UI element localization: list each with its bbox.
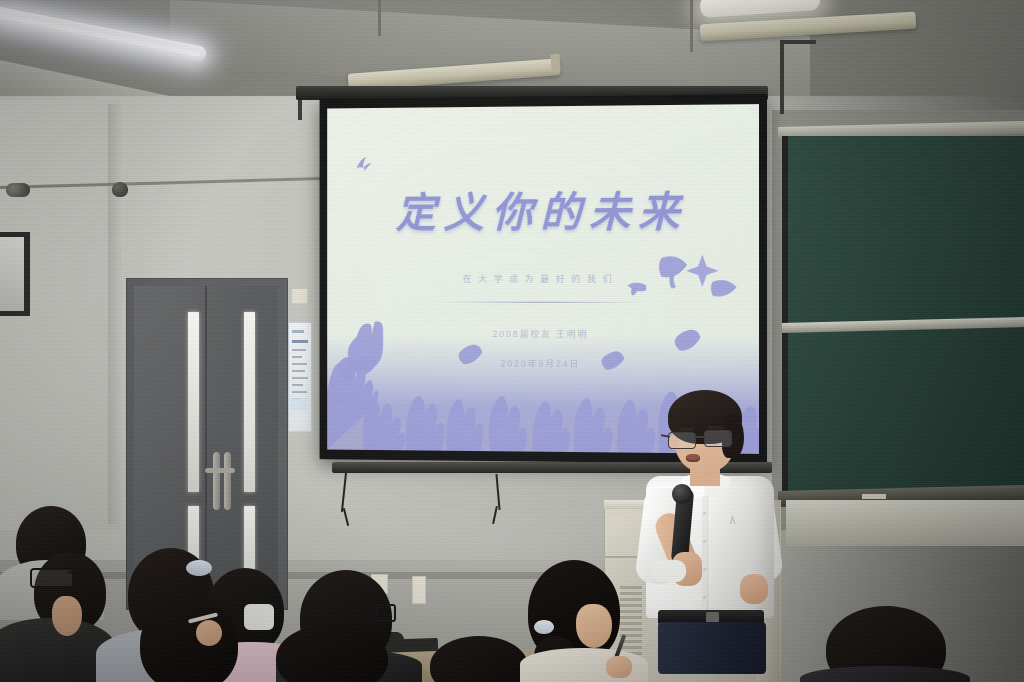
- slide-title: 定义你的未来: [327, 178, 759, 240]
- eyeglass-bridge: [694, 436, 704, 438]
- shirt-placket: [702, 492, 707, 618]
- screen-bracket-left: [298, 100, 302, 120]
- shirt-logo-icon: [728, 514, 737, 525]
- wall-fitting-icon: [6, 183, 30, 197]
- presenter: [628, 392, 788, 682]
- chalk-piece[interactable]: [862, 494, 886, 499]
- suspended-tube-front-endcap: [550, 54, 560, 72]
- motion-sensor-icon: [112, 182, 128, 197]
- presenter-trousers: [658, 622, 766, 674]
- light-hanger-rod-2: [690, 0, 693, 52]
- presenter-hand-right: [740, 574, 768, 604]
- blackboard-base-wall: [786, 500, 1024, 546]
- hair-clip-icon: [186, 560, 212, 576]
- audience-eyeglasses-right-icon: [376, 604, 396, 622]
- door-window-right: [244, 312, 255, 492]
- door-window-left: [188, 312, 199, 492]
- wall-notice-small: [291, 288, 308, 304]
- shirt-button-2: [703, 540, 706, 543]
- shirt-button-1: [703, 512, 706, 515]
- hair-tie-icon: [534, 620, 554, 634]
- shirt-button-3: [703, 568, 706, 571]
- eyeglass-temple: [661, 434, 670, 437]
- eyeglass-lens-left: [668, 432, 696, 449]
- student-ponytail-face: [576, 604, 612, 648]
- wall-corner: [108, 104, 124, 524]
- shirt-cuff-left: [652, 560, 686, 582]
- wall-window-glass: [0, 237, 24, 311]
- door-handle-left[interactable]: [213, 452, 220, 510]
- dove-silhouette-icon: [352, 152, 377, 178]
- wall-notice-blue-panel: [290, 398, 307, 410]
- eyeglasses-icon: [668, 430, 740, 447]
- presenter-mouth: [686, 454, 700, 462]
- green-chalkboard: [782, 136, 1024, 496]
- screen-support-arm-right: [780, 40, 816, 44]
- eyeglass-lens-right: [704, 430, 732, 447]
- shirt-button-4: [703, 596, 706, 599]
- face-mask-icon: [244, 604, 274, 630]
- student-front-ear: [196, 620, 222, 646]
- microphone-capsule: [672, 484, 692, 504]
- door-center-seam: [205, 286, 207, 608]
- student-hand-with-pen: [606, 656, 632, 678]
- screen-bracket-right: [780, 40, 784, 114]
- door-handle-right[interactable]: [224, 452, 231, 510]
- door-push-bar[interactable]: [205, 468, 235, 473]
- light-hanger-rod-1: [378, 0, 381, 36]
- classroom-scene: 定义你的未来 在大学成为最好的我们 2008届校友 王明明 2020年9月24日: [0, 0, 1024, 682]
- audience-face-profile: [52, 596, 82, 636]
- wall-outlet-2: [412, 576, 426, 604]
- list-item: [140, 596, 238, 682]
- presenter-brow-right: [708, 426, 724, 429]
- wall-notice-poster: [288, 322, 312, 432]
